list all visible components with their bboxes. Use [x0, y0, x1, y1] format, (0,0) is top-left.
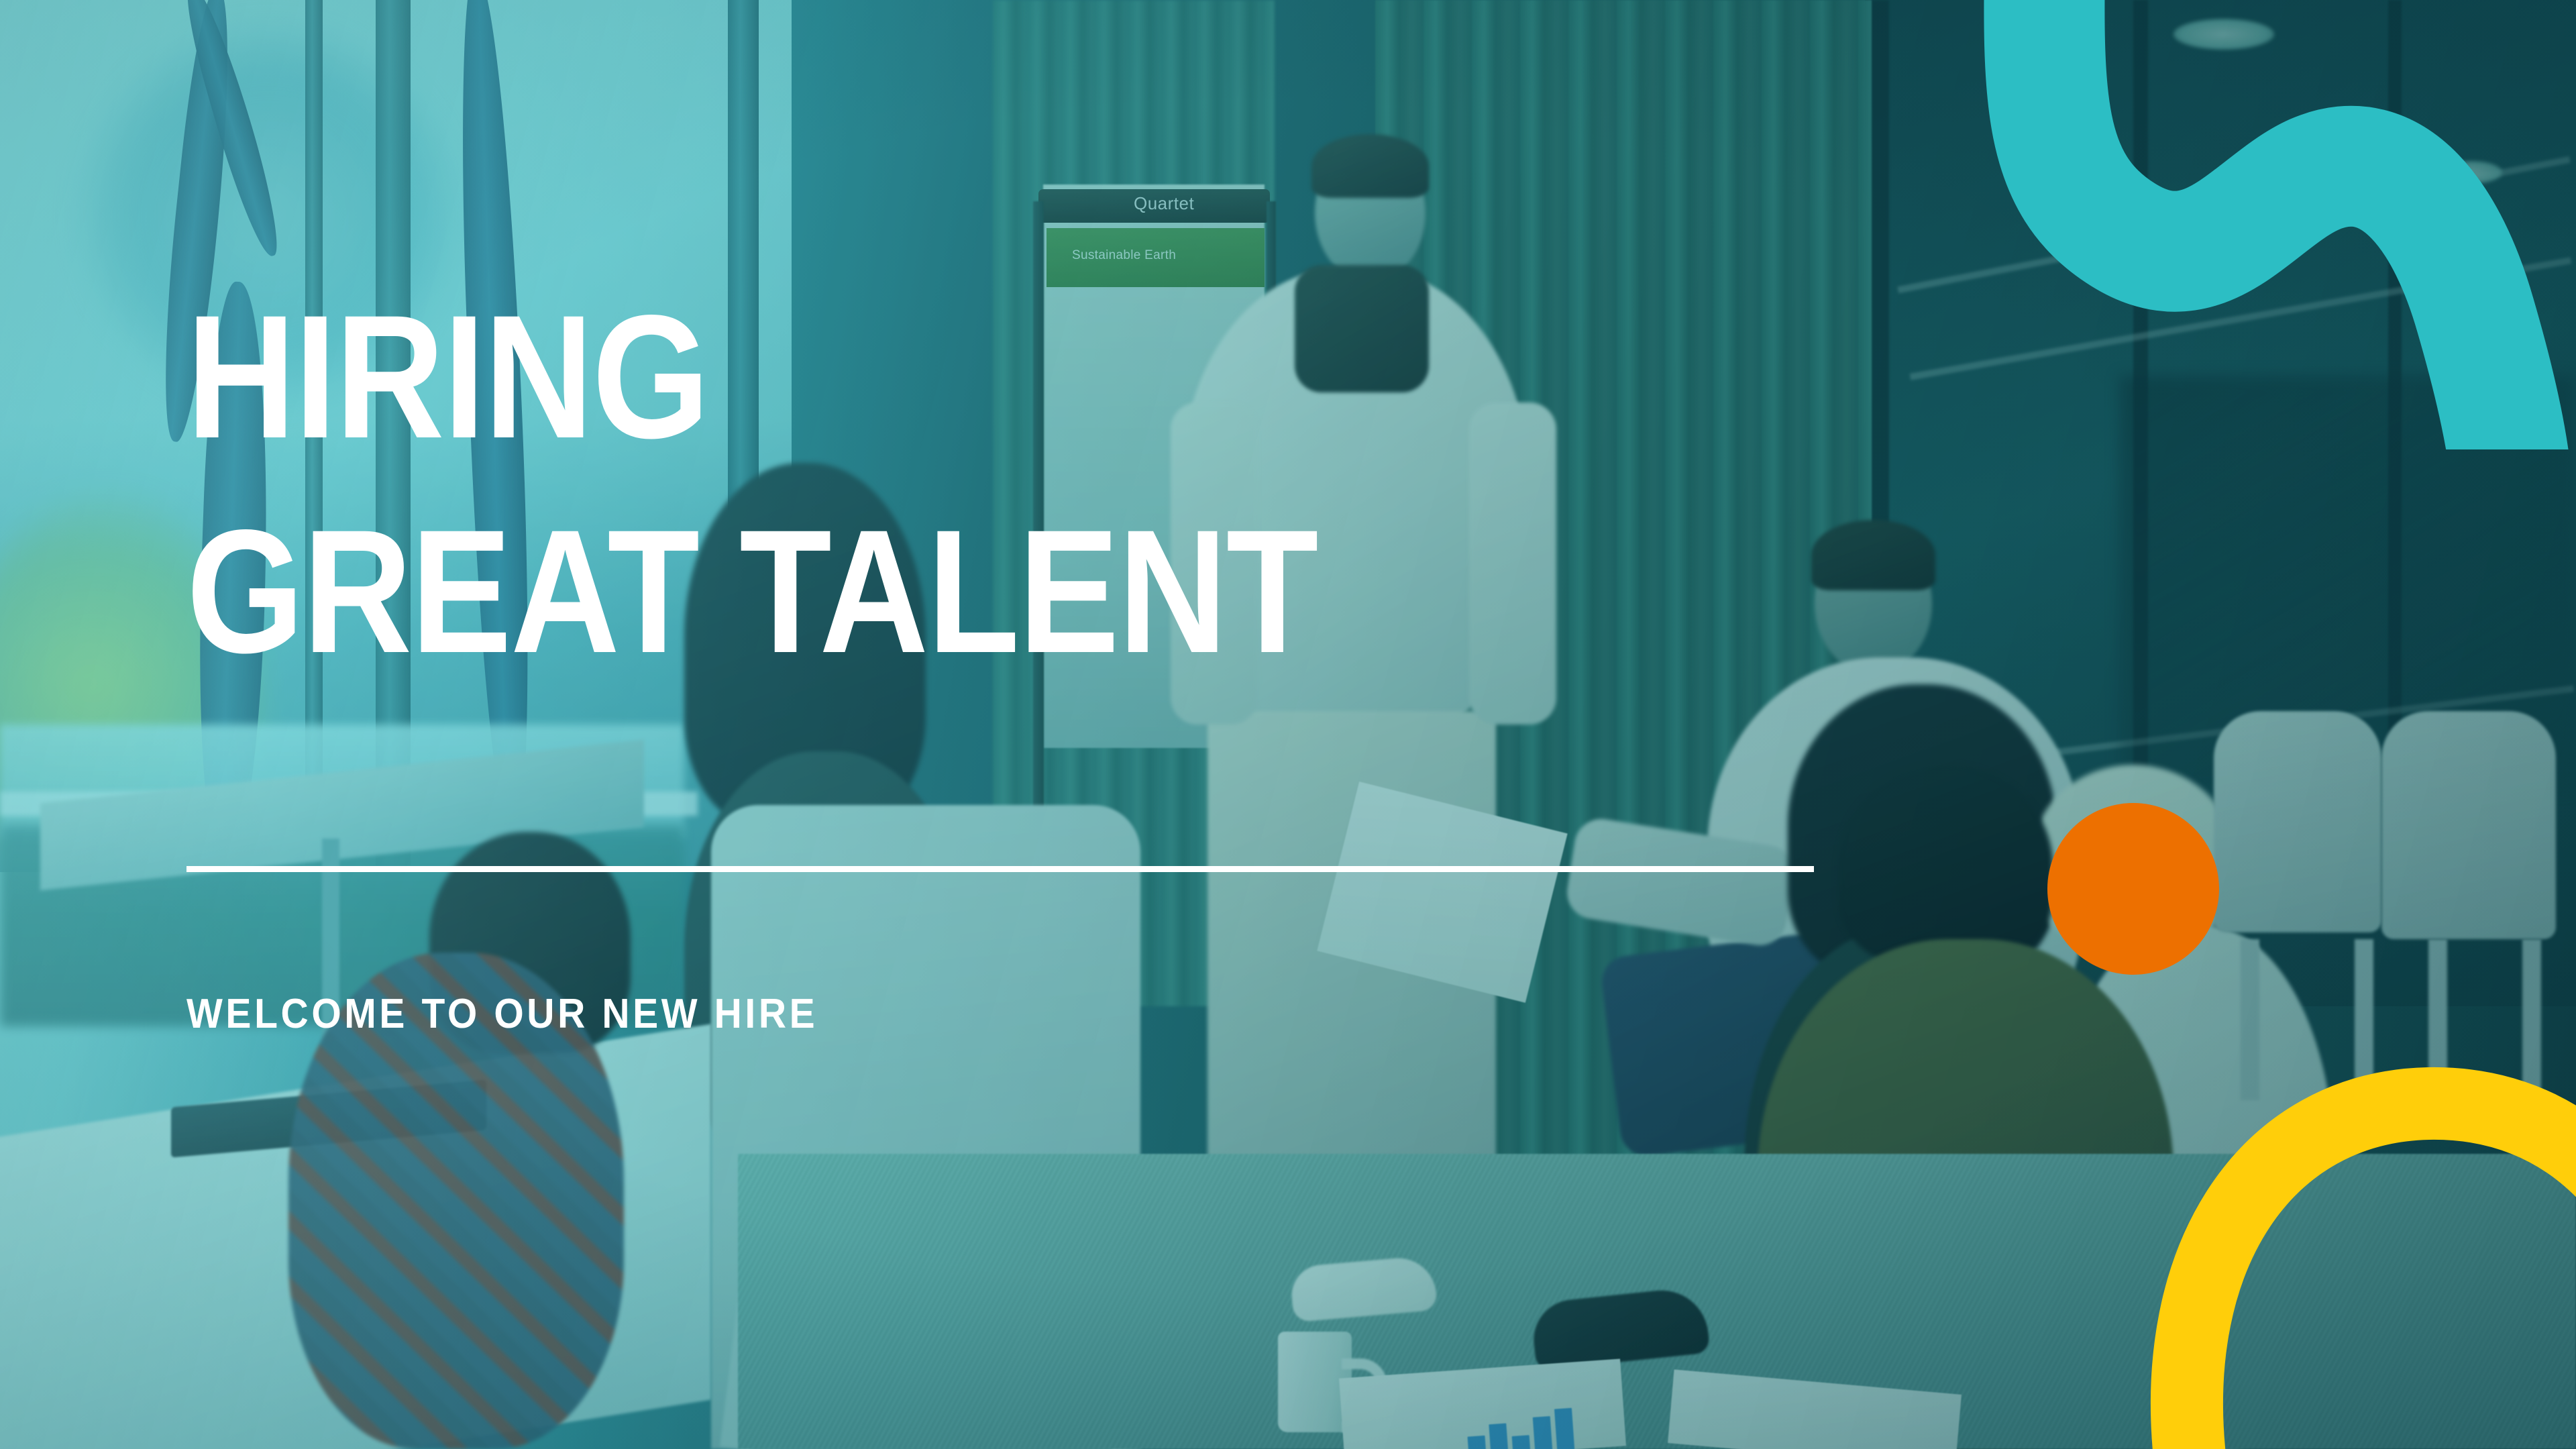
headline-line-1: HIRING	[186, 303, 708, 451]
banner-subtitle: WELCOME TO OUR NEW HIRE	[186, 990, 818, 1038]
white-divider-rule	[186, 866, 1814, 872]
hiring-banner: Quartet Sustainable Earth	[0, 0, 2576, 1449]
headline-line-2: GREAT TALENT	[186, 518, 1318, 665]
banner-content: HIRING GREAT TALENT WELCOME TO OUR NEW H…	[186, 0, 1864, 1449]
